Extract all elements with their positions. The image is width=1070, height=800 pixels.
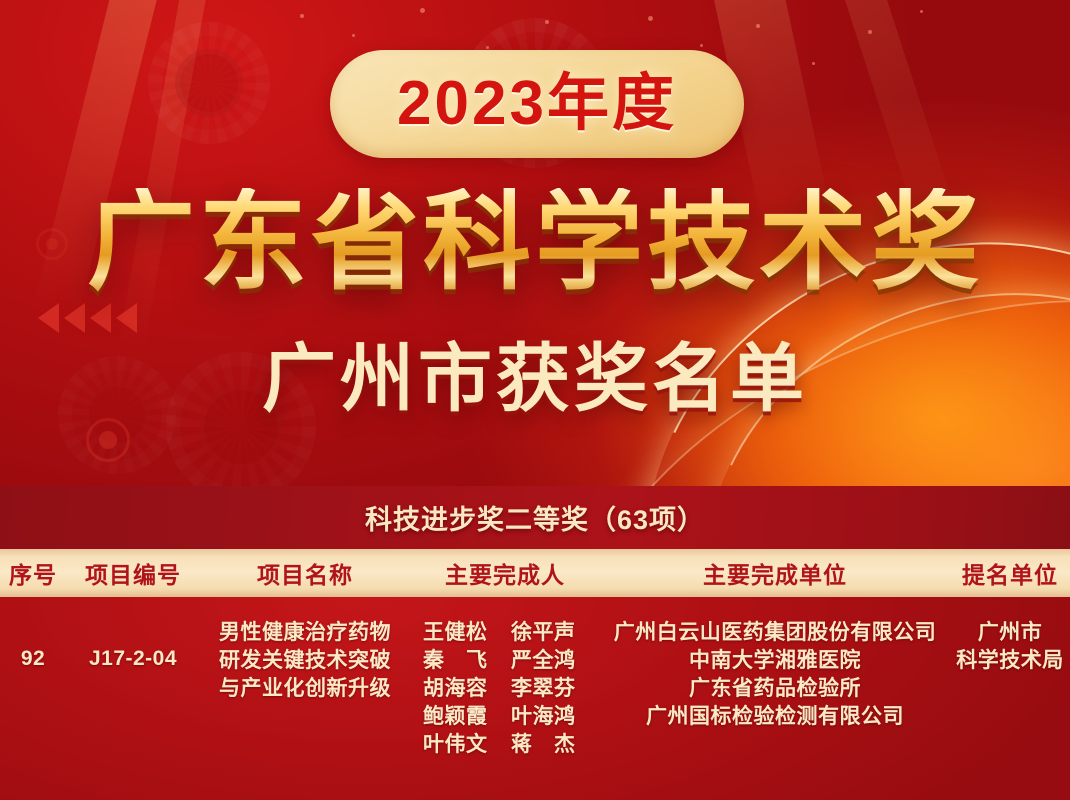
award-list-poster: 2023年度 广东省科学技术奖 广州市获奖名单 科技进步奖二等奖（63项） 序号… <box>0 0 1070 800</box>
nominating-unit-line: 科学技术局 <box>950 647 1070 675</box>
page-subtitle: 广州市获奖名单 <box>0 342 1070 416</box>
contributor-name: 李翠芬 <box>511 675 587 703</box>
year-badge-label: 2023年度 <box>397 73 677 135</box>
poster-banner: 2023年度 广东省科学技术奖 广州市获奖名单 <box>0 0 1070 486</box>
column-header-nom: 提名单位 <box>950 556 1070 590</box>
contributor-name: 蒋 杰 <box>511 731 587 759</box>
column-header-no: 序号 <box>0 556 66 590</box>
particle <box>420 8 425 13</box>
contributor-row: 胡海容 李翠芬 <box>410 675 600 703</box>
project-name-line: 男性健康治疗药物 <box>200 619 410 647</box>
particle <box>700 44 703 47</box>
project-name-line: 研发关键技术突破 <box>200 647 410 675</box>
cell-main-units: 广州白云山医药集团股份有限公司 中南大学湘雅医院 广东省药品检验所 广州国标检验… <box>600 597 950 800</box>
unit-line: 广州国标检验检测有限公司 <box>600 703 950 731</box>
year-badge: 2023年度 <box>330 50 744 158</box>
contributor-name: 叶伟文 <box>423 731 499 759</box>
table-header-row: 序号 项目编号 项目名称 主要完成人 主要完成单位 提名单位 <box>0 549 1070 597</box>
particle <box>545 20 549 24</box>
unit-line: 广州白云山医药集团股份有限公司 <box>600 619 950 647</box>
contributor-grid: 王健松 徐平声 秦 飞 严全鸿 胡海容 李翠芬 鲍颖霞 叶海鸿 叶伟文 蒋 <box>410 619 600 759</box>
contributor-row: 叶伟文 蒋 杰 <box>410 731 600 759</box>
contributor-name: 胡海容 <box>423 675 499 703</box>
cell-serial-number: 92 <box>0 597 66 800</box>
contributor-row: 王健松 徐平声 <box>410 619 600 647</box>
section-title: 科技进步奖二等奖（63项） <box>365 498 705 537</box>
column-header-units: 主要完成单位 <box>600 556 950 590</box>
unit-line: 广东省药品检验所 <box>600 675 950 703</box>
contributor-row: 秦 飞 严全鸿 <box>410 647 600 675</box>
particle <box>756 24 760 28</box>
serial-number-value: 92 <box>21 647 45 670</box>
column-header-name: 项目名称 <box>200 556 410 590</box>
contributor-name: 秦 飞 <box>423 647 499 675</box>
particle <box>648 16 653 21</box>
column-header-code: 项目编号 <box>66 556 200 590</box>
contributor-name: 徐平声 <box>511 619 587 647</box>
particle <box>352 34 355 37</box>
column-header-people: 主要完成人 <box>410 556 600 590</box>
left-arrows-icon <box>38 303 137 333</box>
particle <box>920 10 923 13</box>
page-title: 广东省科学技术奖 <box>0 188 1070 296</box>
contributor-name: 严全鸿 <box>511 647 587 675</box>
contributor-name: 鲍颖霞 <box>423 703 499 731</box>
cell-nominating-unit: 广州市 科学技术局 <box>950 597 1070 800</box>
table-row: 92 J17-2-04 男性健康治疗药物 研发关键技术突破 与产业化创新升级 王… <box>0 597 1070 800</box>
particle <box>486 46 489 49</box>
contributor-name: 叶海鸿 <box>511 703 587 731</box>
particle <box>812 62 815 65</box>
contributor-name: 王健松 <box>423 619 499 647</box>
gear-icon <box>148 22 270 144</box>
particle <box>868 30 872 34</box>
project-name-line: 与产业化创新升级 <box>200 675 410 703</box>
cell-project-name: 男性健康治疗药物 研发关键技术突破 与产业化创新升级 <box>200 597 410 800</box>
nominating-unit-line: 广州市 <box>950 619 1070 647</box>
contributor-row: 鲍颖霞 叶海鸿 <box>410 703 600 731</box>
cell-main-contributors: 王健松 徐平声 秦 飞 严全鸿 胡海容 李翠芬 鲍颖霞 叶海鸿 叶伟文 蒋 <box>410 597 600 800</box>
unit-line: 中南大学湘雅医院 <box>600 647 950 675</box>
project-code-value: J17-2-04 <box>89 647 177 670</box>
section-title-band: 科技进步奖二等奖（63项） <box>0 486 1070 549</box>
particle <box>300 14 304 18</box>
ring-icon <box>86 418 130 462</box>
cell-project-code: J17-2-04 <box>66 597 200 800</box>
